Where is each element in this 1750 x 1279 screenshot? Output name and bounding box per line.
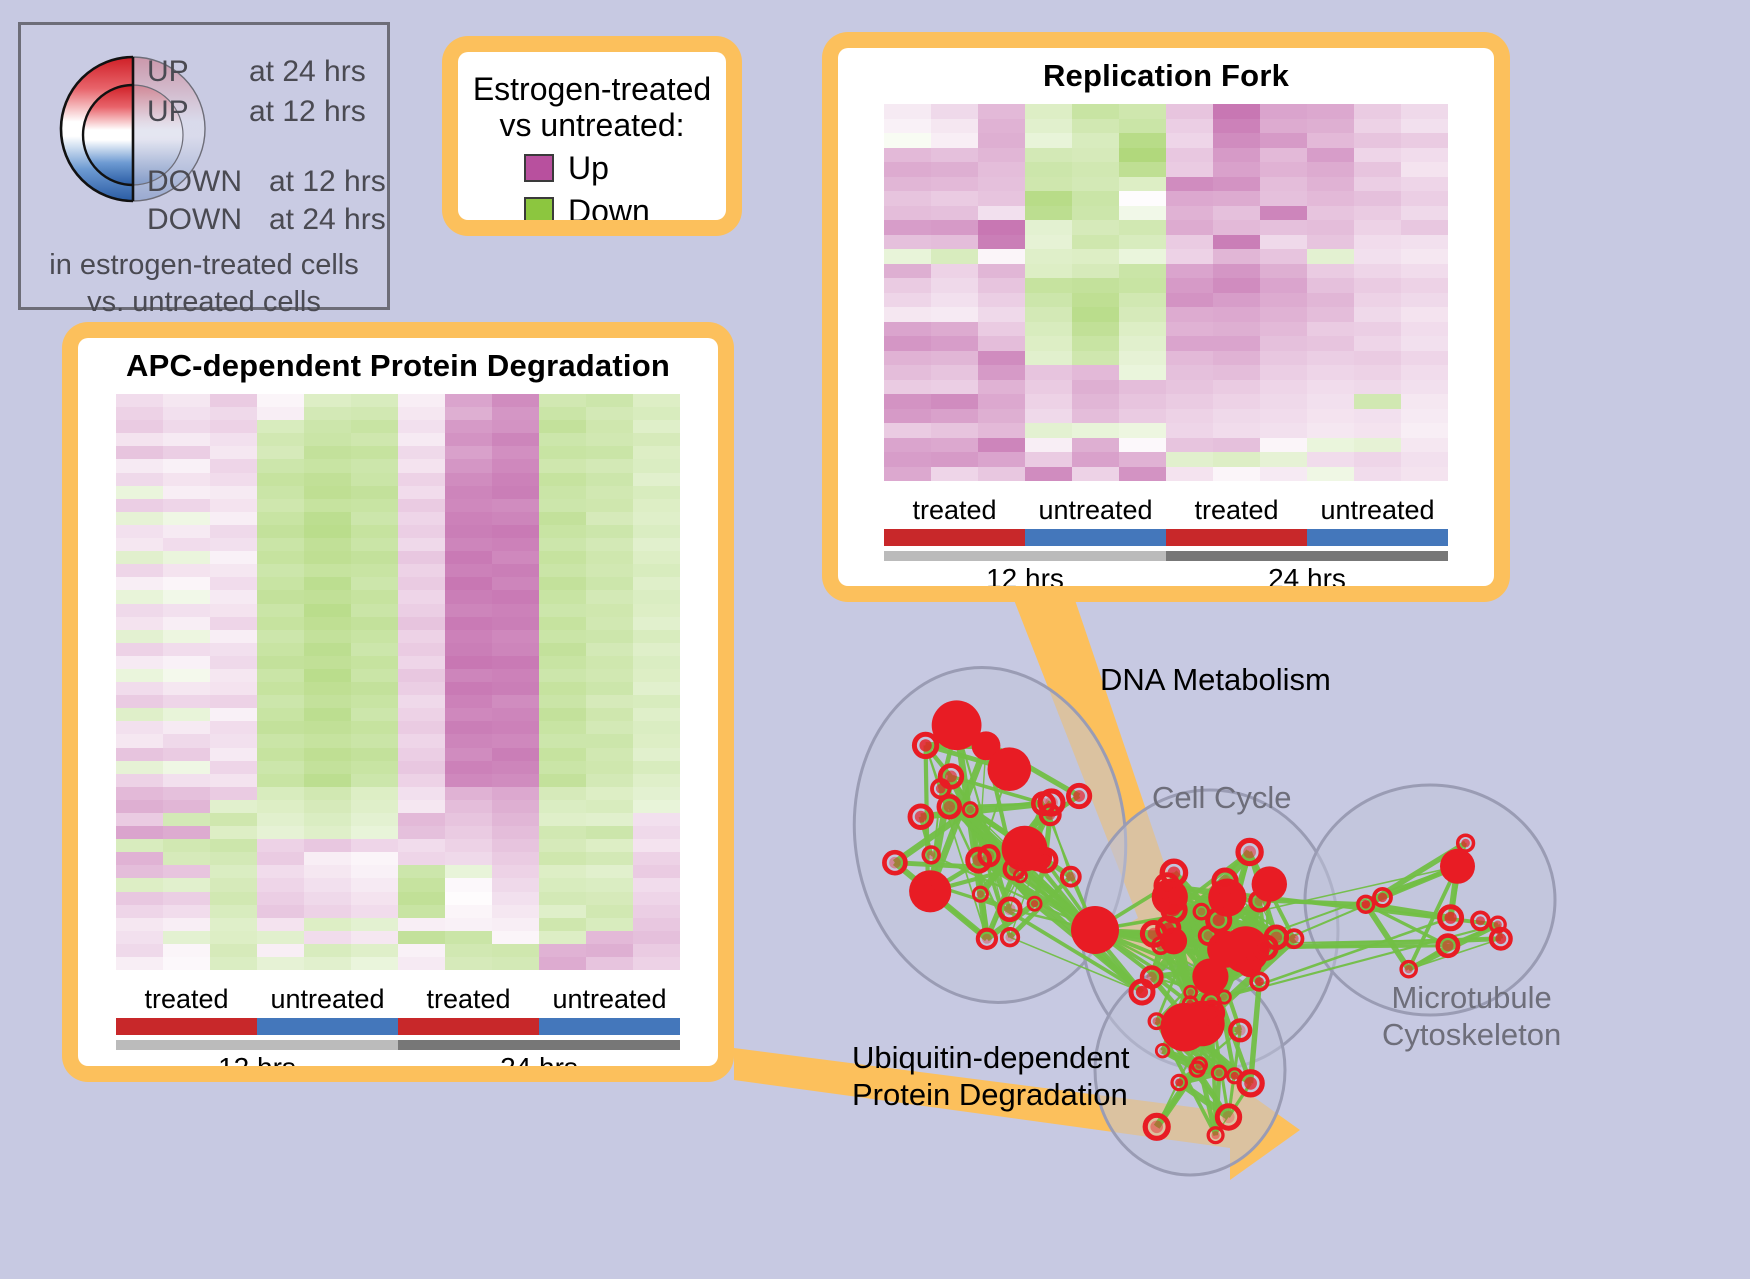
- heatmap-cell: [931, 206, 978, 221]
- heatmap-cell: [492, 787, 539, 800]
- network-node-core: [1038, 798, 1049, 809]
- network-node-core: [1255, 896, 1265, 906]
- heatmap-cell: [398, 459, 445, 472]
- heatmap-cell: [1119, 307, 1166, 322]
- heatmap-cell: [445, 407, 492, 420]
- heatmap-cell: [492, 721, 539, 734]
- heatmap-cell: [163, 931, 210, 944]
- heatmap-cell: [257, 394, 304, 407]
- heatmap-cell: [586, 564, 633, 577]
- heatmap-cell: [398, 708, 445, 721]
- heatmap-cell: [1213, 423, 1260, 438]
- heatmap-cell: [257, 892, 304, 905]
- heatmap-cell: [633, 486, 680, 499]
- heatmap-cell: [257, 499, 304, 512]
- rep-bar-2: [1166, 529, 1307, 546]
- apc-time-label-0: 12 hrs: [116, 1052, 398, 1066]
- heatmap-cell: [586, 433, 633, 446]
- heatmap-cell: [492, 918, 539, 931]
- network-node-core: [1378, 893, 1387, 902]
- heatmap-cell: [1166, 162, 1213, 177]
- heatmap-cell: [116, 695, 163, 708]
- heatmap-cell: [351, 617, 398, 630]
- heatmap-cell: [1025, 264, 1072, 279]
- heatmap-cell: [304, 512, 351, 525]
- heatmap-cell: [1025, 452, 1072, 467]
- heatmap-cell: [304, 486, 351, 499]
- heatmap-cell: [884, 278, 931, 293]
- heatmap-cell: [1213, 365, 1260, 380]
- heatmap-cell: [445, 957, 492, 970]
- heatmap-cell: [1213, 148, 1260, 163]
- heatmap-cell: [539, 708, 586, 721]
- heatmap-cell: [1072, 148, 1119, 163]
- heatmap-cell: [1072, 351, 1119, 366]
- heatmap-cell: [492, 839, 539, 852]
- heatmap-cell: [163, 682, 210, 695]
- heatmap-cell: [304, 669, 351, 682]
- heatmap-cell: [1401, 423, 1448, 438]
- rep-group-label-0: treated: [884, 495, 1025, 526]
- heatmap-cell: [445, 590, 492, 603]
- heatmap-cell: [1401, 148, 1448, 163]
- heatmap-cell: [1213, 162, 1260, 177]
- heatmap-cell: [445, 499, 492, 512]
- heatmap-cell: [1307, 148, 1354, 163]
- heatmap-cell: [304, 708, 351, 721]
- heatmap-cell: [398, 590, 445, 603]
- heatmap-cell: [1401, 235, 1448, 250]
- heatmap-cell: [586, 748, 633, 761]
- heatmap-cell: [1213, 119, 1260, 134]
- legend-state-3: DOWN: [147, 203, 242, 237]
- heatmap-cell: [163, 630, 210, 643]
- heatmap-cell: [257, 446, 304, 459]
- heatmap-cell: [304, 787, 351, 800]
- heatmap-cell: [1213, 394, 1260, 409]
- heatmap-cell: [1025, 293, 1072, 308]
- heatmap-cell: [1025, 380, 1072, 395]
- heatmap-cell: [1401, 220, 1448, 235]
- heatmap-cell: [1025, 249, 1072, 264]
- heatmap-cell: [931, 351, 978, 366]
- heatmap-cell: [1119, 119, 1166, 134]
- heatmap-cell: [1025, 423, 1072, 438]
- heatmap-cell: [492, 617, 539, 630]
- updown-legend-title: Estrogen-treated vs untreated:: [458, 72, 726, 144]
- heatmap-cell: [304, 931, 351, 944]
- heatmap-cell: [1354, 249, 1401, 264]
- heatmap-cell: [586, 774, 633, 787]
- heatmap-cell: [1260, 322, 1307, 337]
- heatmap-cell: [492, 944, 539, 957]
- heatmap-cell: [210, 839, 257, 852]
- heatmap-cell: [304, 590, 351, 603]
- heatmap-cell: [1119, 336, 1166, 351]
- heatmap-cell: [633, 774, 680, 787]
- heatmap-cell: [586, 656, 633, 669]
- legend-row-down: Down: [458, 193, 726, 220]
- heatmap-cell: [1260, 423, 1307, 438]
- heatmap-cell: [1072, 177, 1119, 192]
- heatmap-cell: [257, 695, 304, 708]
- network-node-core: [966, 806, 974, 814]
- heatmap-cell: [633, 617, 680, 630]
- heatmap-cell: [163, 826, 210, 839]
- heatmap-cell: [492, 499, 539, 512]
- network-node-core: [1031, 900, 1038, 907]
- heatmap-cell: [539, 734, 586, 747]
- heatmap-cell: [492, 643, 539, 656]
- heatmap-cell: [586, 512, 633, 525]
- heatmap-cell: [1401, 264, 1448, 279]
- heatmap-cell: [539, 525, 586, 538]
- heatmap-cell: [257, 420, 304, 433]
- heatmap-cell: [492, 800, 539, 813]
- heatmap-cell: [398, 499, 445, 512]
- heatmap-cell: [1354, 438, 1401, 453]
- heatmap-cell: [210, 420, 257, 433]
- heatmap-cell: [1025, 162, 1072, 177]
- heatmap-cell: [1307, 394, 1354, 409]
- heatmap-cell: [445, 826, 492, 839]
- heatmap-cell: [1119, 365, 1166, 380]
- heatmap-cell: [304, 865, 351, 878]
- apc-degradation-axis: treated untreated treated untreated 12 h: [116, 984, 680, 1066]
- heatmap-cell: [1166, 293, 1213, 308]
- heatmap-cell: [1401, 336, 1448, 351]
- network-node-core: [919, 739, 931, 751]
- heatmap-cell: [163, 499, 210, 512]
- network-node-core: [1213, 914, 1225, 926]
- heatmap-cell: [398, 656, 445, 669]
- heatmap-cell: [304, 682, 351, 695]
- heatmap-cell: [978, 162, 1025, 177]
- rep-bar-0: [884, 529, 1025, 546]
- heatmap-cell: [351, 813, 398, 826]
- heatmap-cell: [351, 944, 398, 957]
- apc-degradation-panel: APC-dependent Protein Degradation treate…: [62, 322, 734, 1082]
- heatmap-cell: [884, 409, 931, 424]
- rep-bar-1: [1025, 529, 1166, 546]
- heatmap-cell: [398, 892, 445, 905]
- apc-time-bars: [116, 1040, 680, 1050]
- down-label: Down: [568, 193, 660, 220]
- heatmap-cell: [884, 307, 931, 322]
- heatmap-cell: [978, 278, 1025, 293]
- heatmap-cell: [492, 446, 539, 459]
- heatmap-cell: [633, 590, 680, 603]
- heatmap-cell: [445, 787, 492, 800]
- heatmap-cell: [351, 459, 398, 472]
- heatmap-cell: [492, 551, 539, 564]
- network-node-core: [1260, 942, 1272, 954]
- heatmap-cell: [539, 931, 586, 944]
- heatmap-cell: [931, 264, 978, 279]
- heatmap-cell: [398, 839, 445, 852]
- heatmap-cell: [116, 473, 163, 486]
- heatmap-cell: [1307, 467, 1354, 482]
- heatmap-cell: [304, 420, 351, 433]
- heatmap-cell: [586, 473, 633, 486]
- heatmap-cell: [539, 852, 586, 865]
- network-node-core: [1442, 940, 1453, 951]
- heatmap-cell: [210, 721, 257, 734]
- heatmap-cell: [210, 459, 257, 472]
- heatmap-cell: [163, 734, 210, 747]
- heatmap-cell: [398, 918, 445, 931]
- heatmap-cell: [257, 459, 304, 472]
- heatmap-cell: [1025, 191, 1072, 206]
- heatmap-cell: [398, 446, 445, 459]
- heatmap-cell: [492, 813, 539, 826]
- heatmap-cell: [633, 708, 680, 721]
- heatmap-cell: [884, 394, 931, 409]
- heatmap-cell: [351, 734, 398, 747]
- heatmap-cell: [116, 761, 163, 774]
- heatmap-cell: [163, 944, 210, 957]
- heatmap-cell: [257, 473, 304, 486]
- heatmap-cell: [978, 409, 1025, 424]
- heatmap-cell: [1166, 365, 1213, 380]
- heatmap-cell: [884, 235, 931, 250]
- heatmap-cell: [210, 944, 257, 957]
- heatmap-cell: [492, 604, 539, 617]
- heatmap-cell: [163, 538, 210, 551]
- network-node-core: [1222, 1111, 1234, 1123]
- heatmap-cell: [304, 944, 351, 957]
- heatmap-cell: [1354, 235, 1401, 250]
- heatmap-cell: [163, 590, 210, 603]
- heatmap-cell: [1401, 409, 1448, 424]
- heatmap-cell: [1166, 104, 1213, 119]
- heatmap-cell: [445, 433, 492, 446]
- heatmap-cell: [163, 878, 210, 891]
- heatmap-cell: [257, 839, 304, 852]
- heatmap-cell: [586, 682, 633, 695]
- heatmap-cell: [210, 656, 257, 669]
- heatmap-cell: [210, 473, 257, 486]
- heatmap-cell: [492, 656, 539, 669]
- heatmap-cell: [210, 826, 257, 839]
- heatmap-cell: [398, 473, 445, 486]
- heatmap-cell: [351, 878, 398, 891]
- heatmap-cell: [398, 721, 445, 734]
- heatmap-cell: [398, 748, 445, 761]
- heatmap-cell: [1354, 336, 1401, 351]
- network-node-core: [1235, 1025, 1246, 1036]
- heatmap-cell: [1025, 394, 1072, 409]
- heatmap-cell: [1166, 351, 1213, 366]
- network-node[interactable]: [1071, 906, 1119, 954]
- heatmap-cell: [978, 307, 1025, 322]
- heatmap-cell: [931, 162, 978, 177]
- heatmap-cell: [398, 669, 445, 682]
- heatmap-cell: [1307, 133, 1354, 148]
- heatmap-cell: [257, 538, 304, 551]
- heatmap-cell: [1213, 293, 1260, 308]
- heatmap-cell: [492, 878, 539, 891]
- heatmap-cell: [586, 931, 633, 944]
- heatmap-cell: [1166, 307, 1213, 322]
- heatmap-cell: [539, 721, 586, 734]
- heatmap-cell: [163, 839, 210, 852]
- heatmap-cell: [1072, 452, 1119, 467]
- heatmap-cell: [492, 394, 539, 407]
- heatmap-cell: [398, 512, 445, 525]
- heatmap-cell: [116, 957, 163, 970]
- heatmap-cell: [1025, 409, 1072, 424]
- heatmap-cell: [1307, 104, 1354, 119]
- heatmap-cell: [931, 293, 978, 308]
- heatmap-cell: [931, 322, 978, 337]
- legend-state-0: UP: [147, 55, 189, 89]
- heatmap-cell: [163, 800, 210, 813]
- heatmap-cell: [1072, 365, 1119, 380]
- heatmap-cell: [116, 564, 163, 577]
- replication-group-bars: [884, 529, 1448, 546]
- heatmap-cell: [1072, 423, 1119, 438]
- heatmap-cell: [539, 394, 586, 407]
- heatmap-cell: [978, 220, 1025, 235]
- heatmap-cell: [931, 177, 978, 192]
- heatmap-cell: [398, 813, 445, 826]
- heatmap-cell: [884, 148, 931, 163]
- heatmap-cell: [351, 420, 398, 433]
- heatmap-cell: [1401, 452, 1448, 467]
- heatmap-cell: [1166, 191, 1213, 206]
- heatmap-cell: [116, 407, 163, 420]
- heatmap-cell: [1213, 235, 1260, 250]
- network-node-core: [1494, 921, 1502, 929]
- heatmap-cell: [116, 630, 163, 643]
- heatmap-cell: [633, 512, 680, 525]
- network-node[interactable]: [1440, 849, 1475, 884]
- heatmap-cell: [1166, 467, 1213, 482]
- heatmap-cell: [492, 669, 539, 682]
- heatmap-cell: [163, 852, 210, 865]
- heatmap-cell: [1354, 423, 1401, 438]
- heatmap-cell: [492, 433, 539, 446]
- heatmap-cell: [492, 420, 539, 433]
- heatmap-cell: [586, 486, 633, 499]
- heatmap-cell: [116, 708, 163, 721]
- heatmap-cell: [304, 734, 351, 747]
- up-color-swatch: [524, 154, 554, 182]
- heatmap-cell: [398, 695, 445, 708]
- heatmap-cell: [210, 604, 257, 617]
- heatmap-cell: [351, 682, 398, 695]
- heatmap-cell: [978, 336, 1025, 351]
- heatmap-cell: [1260, 220, 1307, 235]
- heatmap-cell: [351, 905, 398, 918]
- heatmap-cell: [257, 617, 304, 630]
- heatmap-cell: [398, 905, 445, 918]
- heatmap-cell: [445, 669, 492, 682]
- heatmap-cell: [1307, 438, 1354, 453]
- heatmap-cell: [116, 459, 163, 472]
- heatmap-cell: [116, 931, 163, 944]
- heatmap-cell: [1072, 119, 1119, 134]
- heatmap-cell: [633, 525, 680, 538]
- heatmap-cell: [586, 944, 633, 957]
- heatmap-cell: [210, 931, 257, 944]
- heatmap-cell: [398, 787, 445, 800]
- network-node-core: [977, 890, 985, 898]
- heatmap-cell: [257, 669, 304, 682]
- heatmap-cell: [351, 892, 398, 905]
- heatmap-cell: [116, 486, 163, 499]
- network-node-core: [1156, 941, 1165, 950]
- heatmap-cell: [398, 643, 445, 656]
- heatmap-cell: [1307, 423, 1354, 438]
- replication-time-labels: 12 hrs 24 hrs: [884, 563, 1448, 586]
- heatmap-cell: [351, 564, 398, 577]
- heatmap-cell: [539, 643, 586, 656]
- heatmap-cell: [257, 630, 304, 643]
- heatmap-cell: [586, 734, 633, 747]
- heatmap-cell: [931, 438, 978, 453]
- heatmap-cell: [884, 191, 931, 206]
- heatmap-cell: [586, 892, 633, 905]
- network-node[interactable]: [988, 747, 1032, 791]
- heatmap-cell: [116, 892, 163, 905]
- heatmap-cell: [116, 512, 163, 525]
- heatmap-cell: [633, 800, 680, 813]
- heatmap-cell: [1072, 162, 1119, 177]
- network-node-core: [889, 857, 901, 869]
- network-node-core: [1159, 1047, 1166, 1054]
- heatmap-cell: [884, 220, 931, 235]
- heatmap-cell: [978, 249, 1025, 264]
- heatmap-cell: [1119, 264, 1166, 279]
- heatmap-cell: [210, 538, 257, 551]
- heatmap-cell: [633, 852, 680, 865]
- heatmap-cell: [884, 351, 931, 366]
- heatmap-cell: [539, 499, 586, 512]
- heatmap-cell: [116, 590, 163, 603]
- heatmap-cell: [1025, 104, 1072, 119]
- heatmap-cell: [539, 564, 586, 577]
- heatmap-cell: [1307, 162, 1354, 177]
- heatmap-cell: [210, 695, 257, 708]
- heatmap-cell: [351, 839, 398, 852]
- heatmap-cell: [931, 394, 978, 409]
- heatmap-cell: [398, 617, 445, 630]
- heatmap-cell: [304, 459, 351, 472]
- heatmap-cell: [1401, 438, 1448, 453]
- heatmap-cell: [304, 918, 351, 931]
- heatmap-cell: [492, 892, 539, 905]
- heatmap-cell: [257, 525, 304, 538]
- heatmap-cell: [1119, 220, 1166, 235]
- heatmap-cell: [257, 407, 304, 420]
- heatmap-cell: [304, 525, 351, 538]
- heatmap-cell: [163, 748, 210, 761]
- heatmap-cell: [304, 433, 351, 446]
- heatmap-cell: [1307, 293, 1354, 308]
- heatmap-cell: [1354, 278, 1401, 293]
- heatmap-cell: [884, 133, 931, 148]
- heatmap-cell: [1213, 409, 1260, 424]
- heatmap-cell: [1119, 235, 1166, 250]
- heatmap-cell: [539, 446, 586, 459]
- heatmap-cell: [1260, 278, 1307, 293]
- network-node-core: [1066, 872, 1076, 882]
- heatmap-cell: [445, 473, 492, 486]
- heatmap-cell: [351, 577, 398, 590]
- apc-time-labels: 12 hrs 24 hrs: [116, 1052, 680, 1066]
